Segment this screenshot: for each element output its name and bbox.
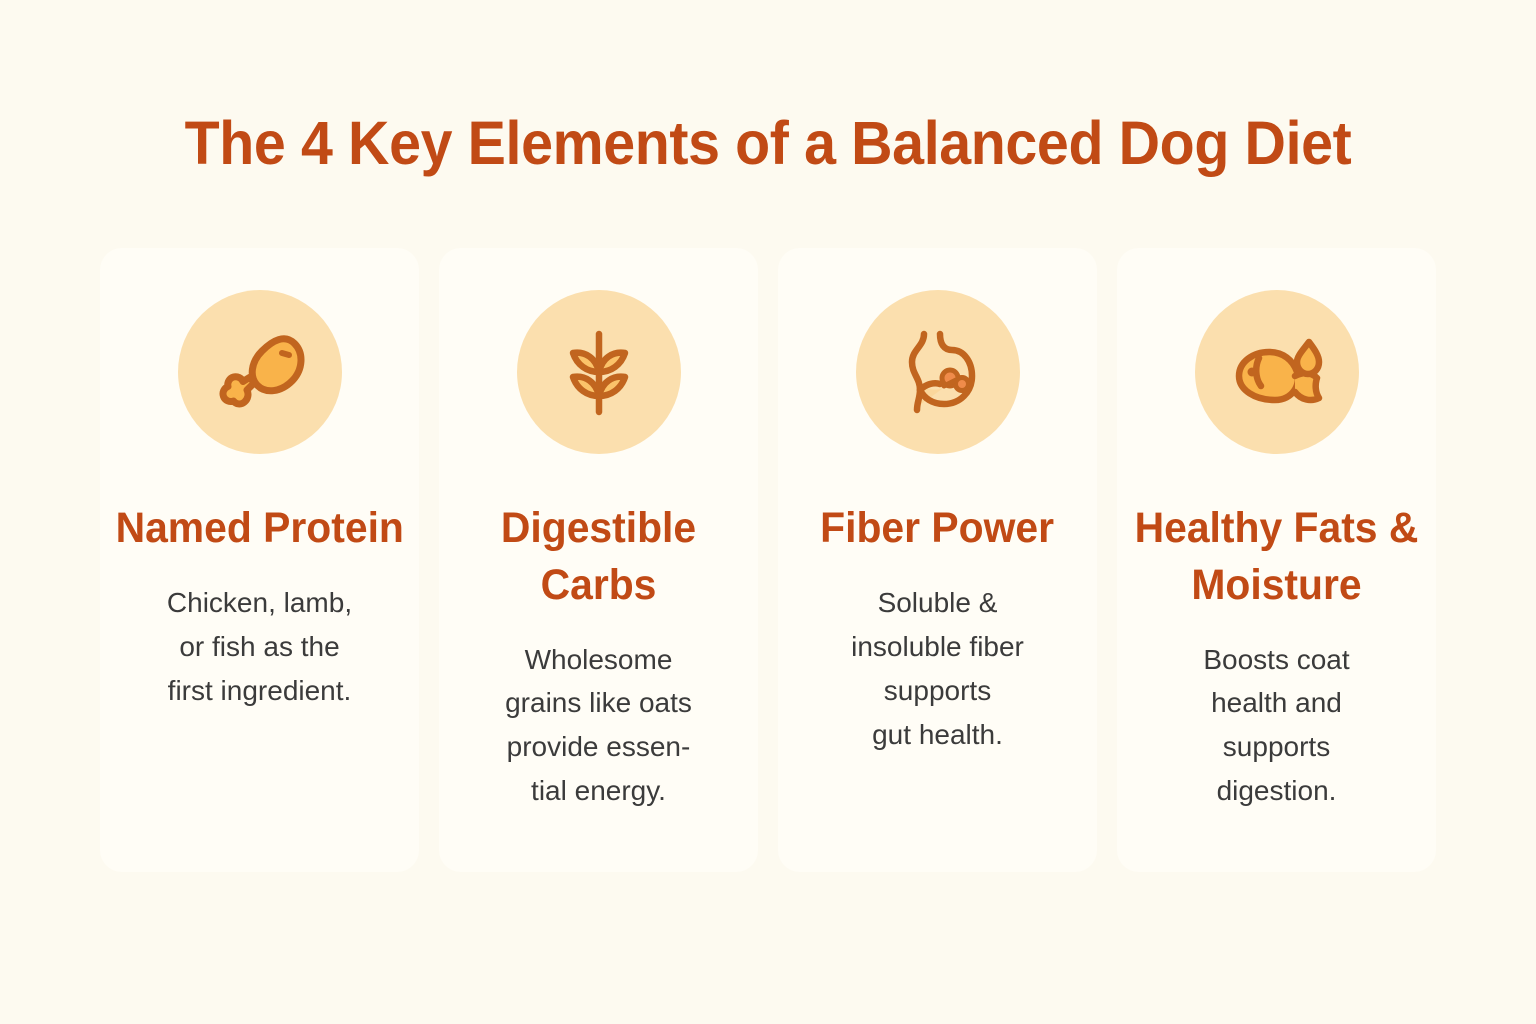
icon-badge <box>1195 290 1359 454</box>
card-title: Digestible Carbs <box>447 500 750 614</box>
cards-row: Named Protein Chicken, lamb, or fish as … <box>100 248 1436 872</box>
card-body: Soluble & insoluble fiber supports gut h… <box>829 581 1046 757</box>
chicken-drumstick-icon <box>208 320 312 424</box>
wheat-stalk-icon <box>547 320 651 424</box>
card-title: Healthy Fats & Moisture <box>1125 500 1428 614</box>
card-title: Named Protein <box>110 500 410 557</box>
card-fiber-power: Fiber Power Soluble & insoluble fiber su… <box>778 248 1097 872</box>
icon-badge <box>178 290 342 454</box>
stomach-icon <box>886 320 990 424</box>
card-title: Fiber Power <box>815 500 1060 557</box>
card-digestible-carbs: Digestible Carbs Wholesome grains like o… <box>439 248 758 872</box>
fish-droplet-icon <box>1225 320 1329 424</box>
card-body: Chicken, lamb, or fish as the first ingr… <box>145 581 374 713</box>
card-body: Wholesome grains like oats provide essen… <box>483 638 714 814</box>
icon-badge <box>856 290 1020 454</box>
card-body: Boosts coat health and supports digestio… <box>1181 638 1371 814</box>
page-title: The 4 Key Elements of a Balanced Dog Die… <box>46 108 1490 178</box>
card-named-protein: Named Protein Chicken, lamb, or fish as … <box>100 248 419 872</box>
icon-badge <box>517 290 681 454</box>
card-healthy-fats-moisture: Healthy Fats & Moisture Boosts coat heal… <box>1117 248 1436 872</box>
infographic-root: The 4 Key Elements of a Balanced Dog Die… <box>0 0 1536 1024</box>
